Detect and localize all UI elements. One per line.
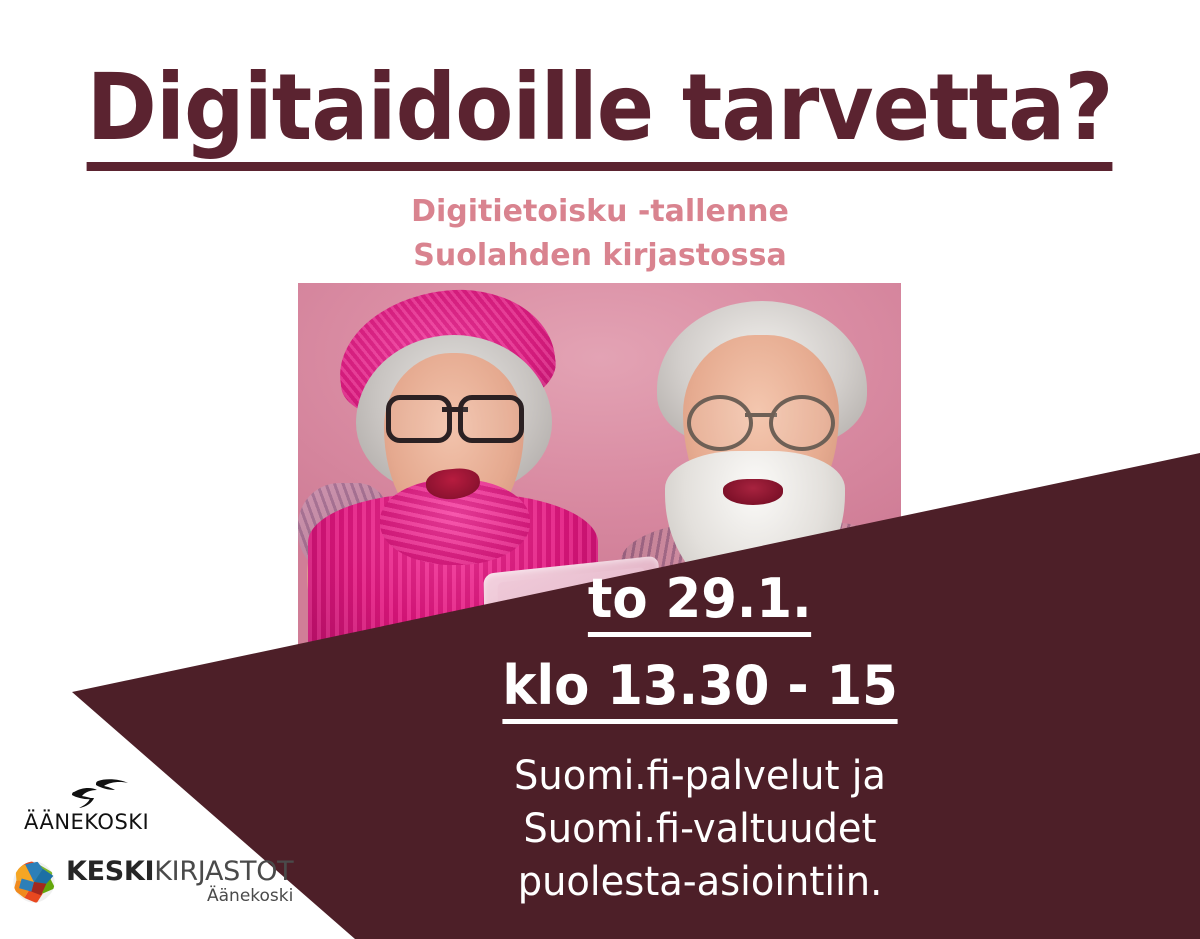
man-lens-left	[687, 395, 753, 451]
event-info-block: to 29.1. klo 13.30 - 15 Suomi.fi-palvelu…	[430, 572, 970, 908]
keskikirjastot-wordmark: KESKIKIRJASTOT	[66, 858, 293, 885]
page-title: Digitaidoille tarvetta?	[87, 62, 1113, 171]
event-time-row: klo 13.30 - 15	[430, 659, 970, 724]
subtitle-line-2: Suolahden kirjastossa	[0, 234, 1200, 278]
event-description: Suomi.fi-palvelut ja Suomi.fi-valtuudet …	[441, 750, 959, 908]
subtitle-block: Digitietoisku -tallenne Suolahden kirjas…	[0, 190, 1200, 279]
aanekoski-swoosh-svg	[58, 778, 136, 810]
woman-glasses-icon	[386, 395, 524, 435]
event-description-line-2: Suomi.fi-valtuudet	[441, 803, 959, 856]
keskikirjastot-pinwheel-icon	[12, 860, 56, 904]
man-lens-right	[769, 395, 835, 451]
man-mouth	[723, 479, 783, 505]
event-time: klo 13.30 - 15	[502, 659, 897, 724]
woman-lens-right	[458, 395, 524, 443]
logo-keskikirjastot: KESKIKIRJASTOT Äänekoski	[12, 858, 293, 905]
event-date: to 29.1.	[588, 572, 812, 637]
event-description-line-3: puolesta-asiointiin.	[441, 856, 959, 909]
aanekoski-wordmark: ÄÄNEKOSKI	[24, 812, 164, 833]
poster-canvas: Digitaidoille tarvetta? Digitietoisku -t…	[0, 0, 1200, 939]
woman-lens-left	[386, 395, 452, 443]
title-block: Digitaidoille tarvetta?	[0, 62, 1200, 171]
keskikirjastot-sub: Äänekoski	[66, 888, 293, 905]
event-date-row: to 29.1.	[430, 572, 970, 637]
aanekoski-swoosh-icon	[58, 778, 164, 812]
subtitle-line-1: Digitietoisku -tallenne	[0, 190, 1200, 234]
keskikirjastot-word-light: KIRJASTOT	[154, 856, 293, 887]
keskikirjastot-text: KESKIKIRJASTOT Äänekoski	[66, 858, 293, 905]
logo-aanekoski: ÄÄNEKOSKI	[24, 778, 164, 833]
keskikirjastot-word-bold: KESKI	[66, 856, 154, 887]
event-description-line-1: Suomi.fi-palvelut ja	[441, 750, 959, 803]
man-glasses-icon	[687, 395, 835, 443]
